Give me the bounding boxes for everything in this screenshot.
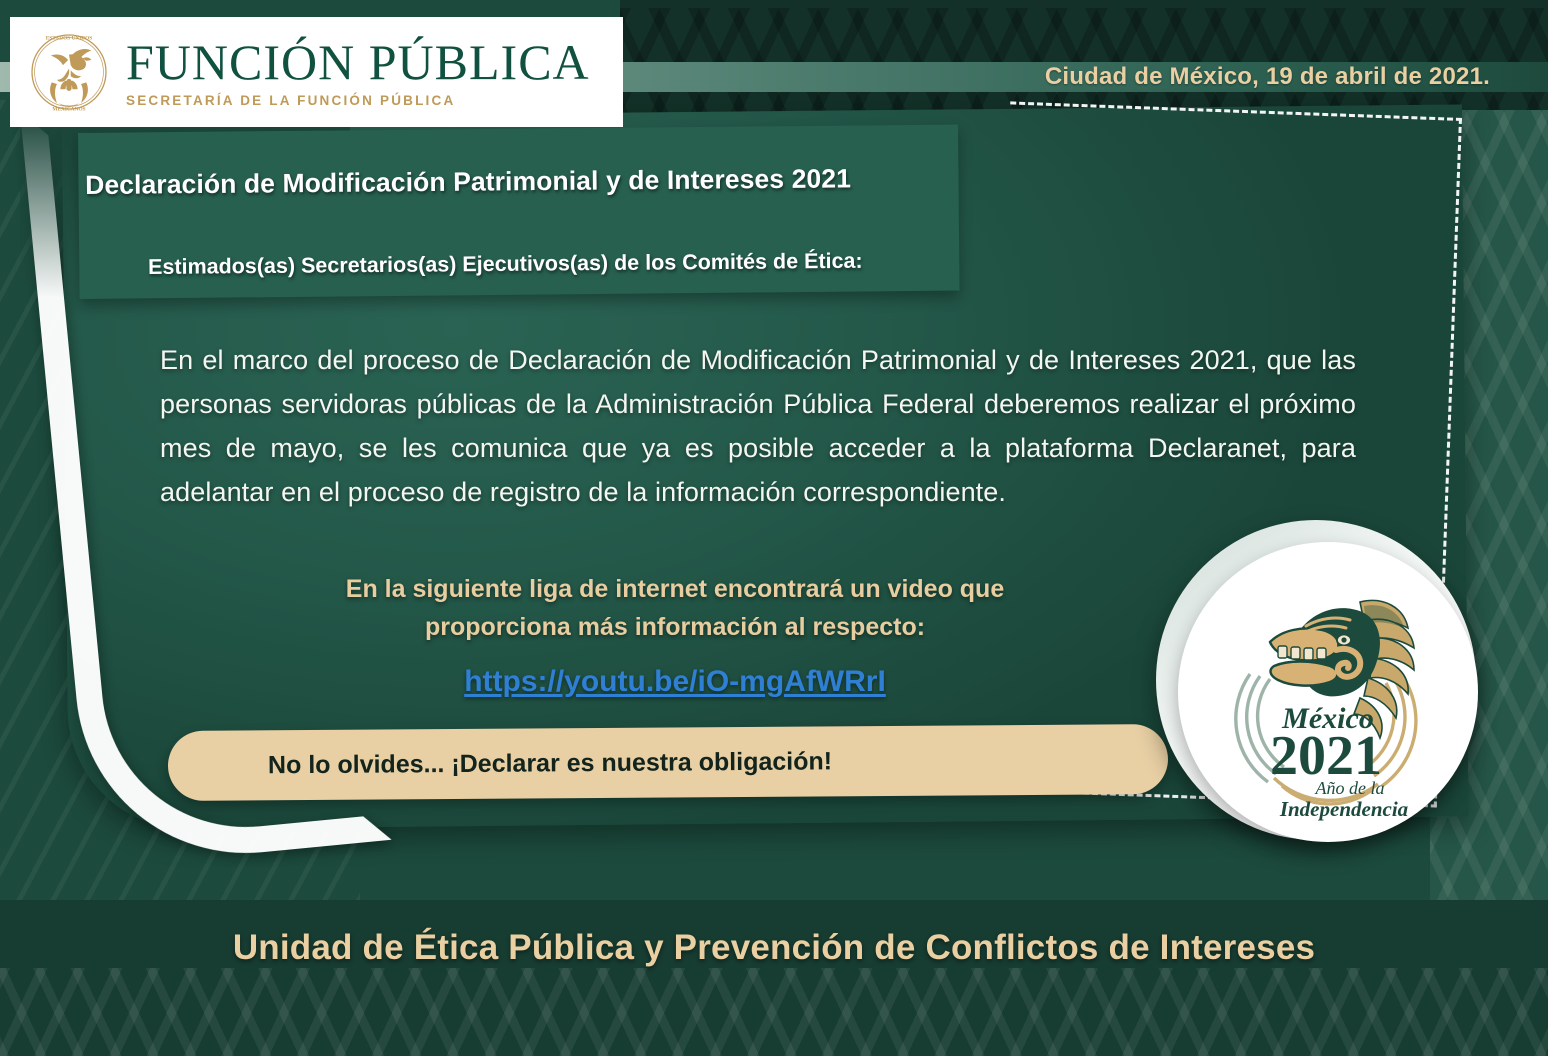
- body-paragraph: En el marco del proceso de Declaración d…: [160, 338, 1356, 514]
- commemorative-seal: México 2021 Año de la Independencia: [1156, 520, 1486, 860]
- reminder-text: No lo olvides... ¡Declarar es nuestra ob…: [268, 747, 832, 780]
- background-bottom-block: [0, 900, 1548, 1056]
- cta-line-2: proporciona más información al respecto:: [180, 608, 1170, 646]
- footer-unit-name: Unidad de Ética Pública y Prevención de …: [0, 928, 1548, 968]
- call-to-action-text: En la siguiente liga de internet encontr…: [180, 570, 1170, 646]
- reminder-banner: No lo olvides... ¡Declarar es nuestra ob…: [168, 724, 1168, 801]
- seal-caption-1: Año de la: [1315, 778, 1385, 798]
- poster-canvas: Declaración de Modificación Patrimonial …: [0, 0, 1548, 1056]
- logo-title: FUNCIÓN PÚBLICA: [126, 37, 590, 88]
- background-top-right-block: [620, 0, 1548, 118]
- seal-caption-2: Independencia: [1279, 797, 1408, 821]
- mexican-coat-of-arms-icon: ESTADOS UNIDOS MEXICANOS: [26, 29, 112, 115]
- video-link-container: https://youtu.be/iO-mgAfWRrI: [180, 665, 1170, 699]
- institution-logo: ESTADOS UNIDOS MEXICANOS FUNCIÓN PÚBLICA…: [10, 17, 623, 127]
- logo-subtitle: SECRETARÍA DE LA FUNCIÓN PÚBLICA: [126, 93, 590, 108]
- cta-line-1: En la siguiente liga de internet encontr…: [180, 570, 1170, 608]
- logo-text-block: FUNCIÓN PÚBLICA SECRETARÍA DE LA FUNCIÓN…: [126, 37, 590, 108]
- svg-text:MEXICANOS: MEXICANOS: [52, 107, 85, 113]
- quetzalcoatl-feathered-serpent-icon: México 2021 Año de la Independencia: [1178, 542, 1478, 842]
- seal-disc: México 2021 Año de la Independencia: [1178, 542, 1478, 842]
- video-link[interactable]: https://youtu.be/iO-mgAfWRrI: [464, 665, 886, 698]
- header-date: Ciudad de México, 19 de abril de 2021.: [1045, 62, 1490, 92]
- background-chevron-bottom: [0, 968, 1548, 1056]
- svg-text:ESTADOS UNIDOS: ESTADOS UNIDOS: [46, 35, 93, 41]
